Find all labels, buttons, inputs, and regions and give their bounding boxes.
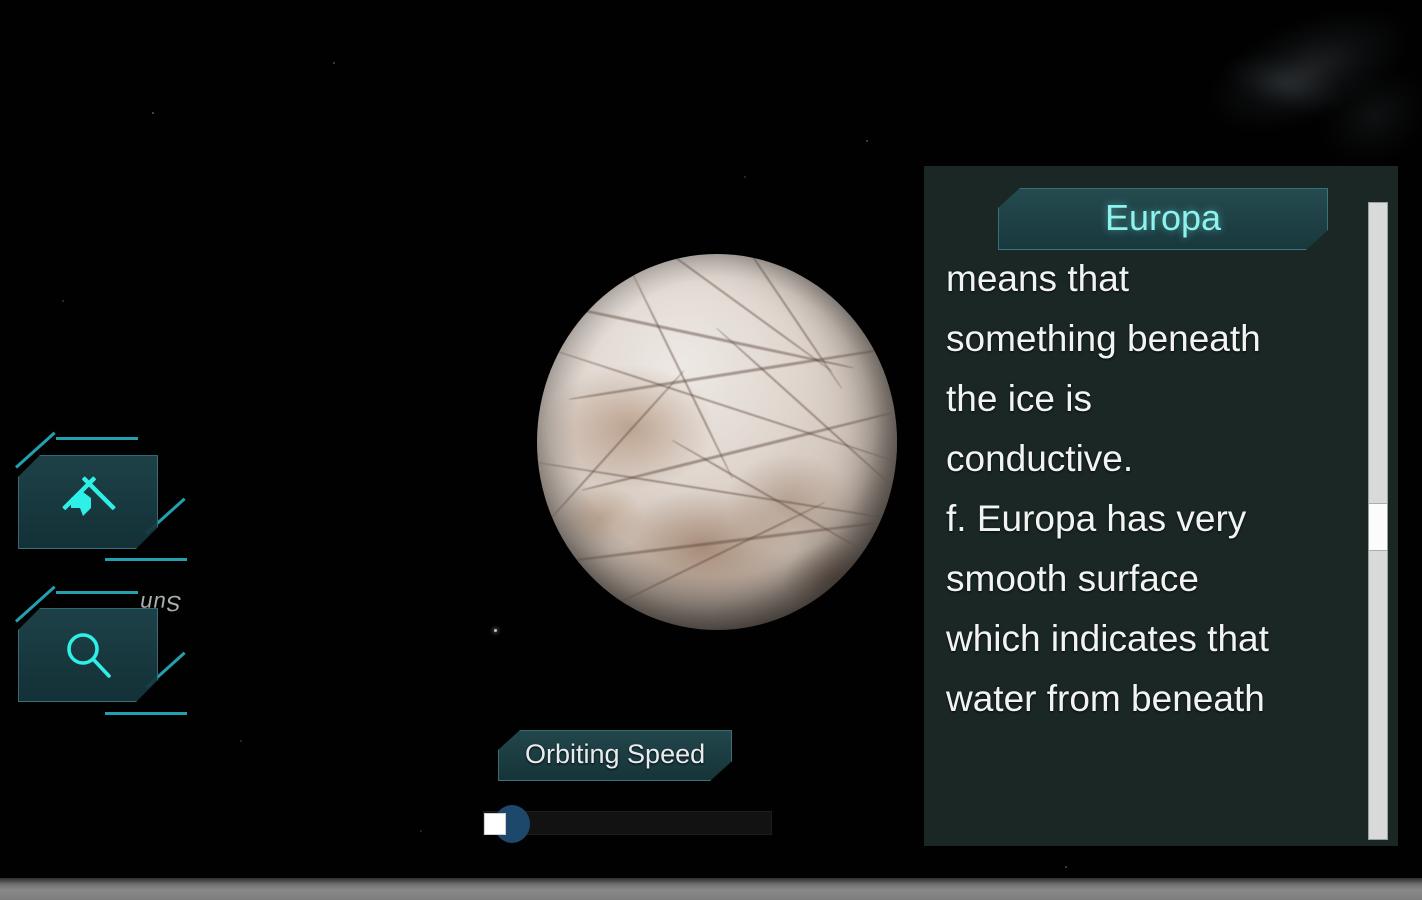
zoom-tool-button[interactable] (18, 608, 158, 702)
bottom-status-bar (0, 878, 1422, 900)
info-panel-text: of a magnetic field means that something… (946, 246, 1358, 729)
planet-surface (537, 254, 897, 630)
star (866, 140, 868, 142)
info-panel-title: Europa (1105, 197, 1221, 238)
app-viewport: Sun Orbiting Speed of a magnetic field m… (0, 0, 1422, 900)
mute-toggle-button[interactable] (18, 455, 158, 549)
mute-speaker-icon (60, 474, 116, 530)
magnifier-icon (59, 626, 117, 684)
star (240, 740, 242, 742)
chip-bracket-top-left (973, 169, 1093, 213)
orbiting-speed-label: Orbiting Speed (525, 739, 705, 769)
info-panel-scrollbar[interactable] (1368, 202, 1388, 840)
star (494, 629, 497, 632)
star (1065, 866, 1067, 868)
info-panel: of a magnetic field means that something… (924, 166, 1398, 846)
star (333, 62, 335, 64)
surface-linea (581, 411, 892, 491)
nebula-wisp (1216, 43, 1355, 125)
orbiting-speed-label-frame: Orbiting Speed (498, 730, 732, 781)
surface-linea (555, 350, 888, 460)
surface-linea (609, 501, 826, 608)
nebula-wisp (1194, 0, 1422, 154)
surface-linea (701, 254, 842, 389)
chip-bracket-bottom-right (1233, 225, 1353, 269)
star (420, 830, 422, 832)
info-panel-title-frame: Europa (924, 166, 1398, 266)
scrollbar-thumb[interactable] (1369, 503, 1387, 551)
star (152, 112, 154, 114)
planet-europa[interactable] (537, 254, 897, 630)
hud-chip: Europa (998, 188, 1328, 250)
surface-linea (569, 346, 895, 401)
hud-chip: Orbiting Speed (498, 730, 732, 781)
nebula-wisp (1301, 47, 1422, 185)
info-panel-body: of a magnetic field means that something… (946, 246, 1358, 846)
orbiting-speed-slider[interactable] (483, 811, 772, 835)
star (62, 300, 64, 302)
star (744, 176, 746, 178)
slider-knob[interactable] (484, 813, 506, 835)
